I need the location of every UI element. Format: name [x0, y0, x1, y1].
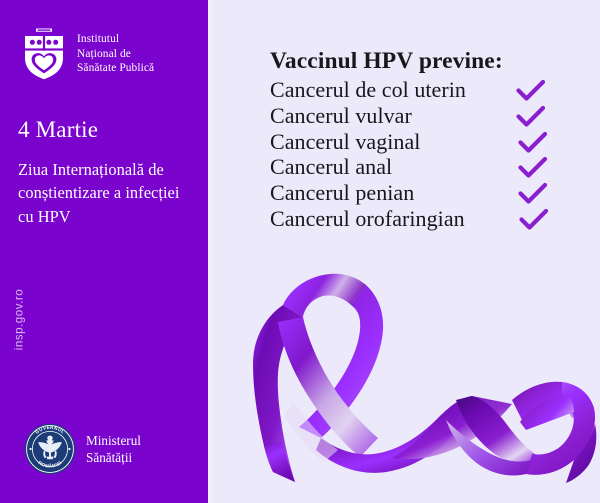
- list-item: Cancerul de col uterin: [270, 77, 600, 103]
- list-item: Cancerul vulvar: [270, 103, 600, 129]
- poster-canvas: Institutul Național de Sănătate Publică …: [0, 0, 600, 503]
- list-item-label: Cancerul anal: [270, 154, 392, 180]
- check-icon: [519, 208, 549, 232]
- insp-logo-label: Institutul Național de Sănătate Publică: [77, 32, 154, 76]
- website-url[interactable]: insp.gov.ro: [13, 274, 26, 366]
- left-panel: Institutul Național de Sănătate Publică …: [0, 0, 208, 503]
- event-date: 4 Martie: [18, 118, 98, 141]
- right-panel: Vaccinul HPV previne: Cancerul de col ut…: [212, 0, 600, 503]
- insp-logo: Institutul Național de Sănătate Publică: [22, 26, 194, 82]
- government-seal-icon: GUVERNUL ROMÂNIEI: [24, 423, 76, 475]
- ministry-logo-label: Ministerul Sănătății: [86, 432, 141, 466]
- list-item: Cancerul anal: [270, 154, 600, 180]
- check-icon: [518, 131, 548, 155]
- ribbon-top-arch: [283, 274, 366, 317]
- list-item: Cancerul penian: [270, 180, 600, 206]
- check-icon: [516, 105, 546, 129]
- prevented-cancers-list: Cancerul de col uterin Cancerul vulvar C…: [270, 77, 600, 232]
- list-item: Cancerul orofaringian: [270, 206, 600, 232]
- event-subtitle: Ziua Internațională de conștientizare a …: [18, 158, 198, 228]
- list-item-label: Cancerul vaginal: [270, 129, 420, 155]
- list-item-label: Cancerul penian: [270, 180, 414, 206]
- list-item: Cancerul vaginal: [270, 129, 600, 155]
- ministry-logo: GUVERNUL ROMÂNIEI Ministerul Sănătății: [24, 421, 194, 477]
- check-icon: [518, 182, 548, 206]
- shield-heart-icon: [22, 28, 66, 80]
- list-item-label: Cancerul orofaringian: [270, 206, 465, 232]
- page-title: Vaccinul HPV previne:: [270, 48, 503, 75]
- check-icon: [518, 156, 548, 180]
- awareness-ribbon-icon: [220, 252, 600, 503]
- list-item-label: Cancerul vulvar: [270, 103, 412, 129]
- list-item-label: Cancerul de col uterin: [270, 77, 466, 103]
- check-icon: [516, 79, 546, 103]
